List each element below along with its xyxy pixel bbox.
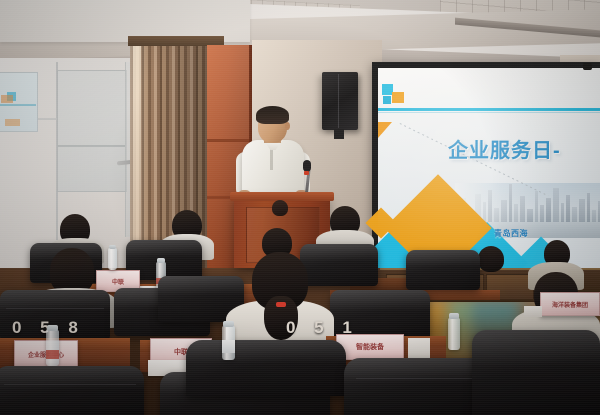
bottle-label-band bbox=[46, 350, 59, 359]
chair-highlight bbox=[300, 244, 378, 286]
water-bottle[interactable] bbox=[46, 330, 59, 366]
chair-highlight bbox=[0, 366, 144, 415]
chair-seam bbox=[6, 308, 104, 309]
presenter-shirt-placket bbox=[270, 148, 273, 170]
wall-speaker-bracket bbox=[334, 129, 344, 139]
audience-head bbox=[272, 200, 288, 216]
chair-highlight bbox=[472, 330, 600, 415]
table-name-card: 智能装备 bbox=[336, 334, 404, 360]
audience-head bbox=[478, 246, 504, 272]
hair-tie bbox=[276, 302, 286, 307]
chair-seam bbox=[4, 384, 136, 385]
wood-column-joint bbox=[207, 139, 251, 142]
bottle-cap bbox=[47, 325, 58, 331]
handout-document bbox=[524, 306, 542, 317]
bottle-label bbox=[222, 340, 235, 353]
bottle-cap bbox=[223, 321, 234, 327]
projector-glow bbox=[378, 68, 600, 271]
bottle-cap bbox=[109, 245, 116, 249]
bottle-cap bbox=[157, 258, 165, 263]
wall-speaker-seam bbox=[338, 74, 339, 128]
projector-sensor-icon bbox=[583, 63, 592, 70]
water-bottle[interactable] bbox=[448, 318, 460, 350]
chair-highlight bbox=[406, 250, 480, 290]
presenter-ear bbox=[285, 122, 290, 130]
microphone-indicator bbox=[304, 171, 309, 175]
chair-highlight bbox=[186, 340, 346, 396]
water-bottle[interactable] bbox=[108, 248, 117, 270]
conference-room-photo: 企业服务日- 青岛西海 bbox=[0, 0, 600, 415]
secondary-display-line bbox=[0, 104, 36, 106]
bottle-cap bbox=[449, 313, 459, 319]
secondary-display-orange-shape bbox=[5, 119, 20, 126]
wall-speaker bbox=[322, 72, 358, 130]
table-name-card: 海洋装备集团 bbox=[540, 292, 600, 316]
secondary-display-orange-square bbox=[1, 95, 13, 103]
presenter-hair bbox=[256, 106, 289, 124]
